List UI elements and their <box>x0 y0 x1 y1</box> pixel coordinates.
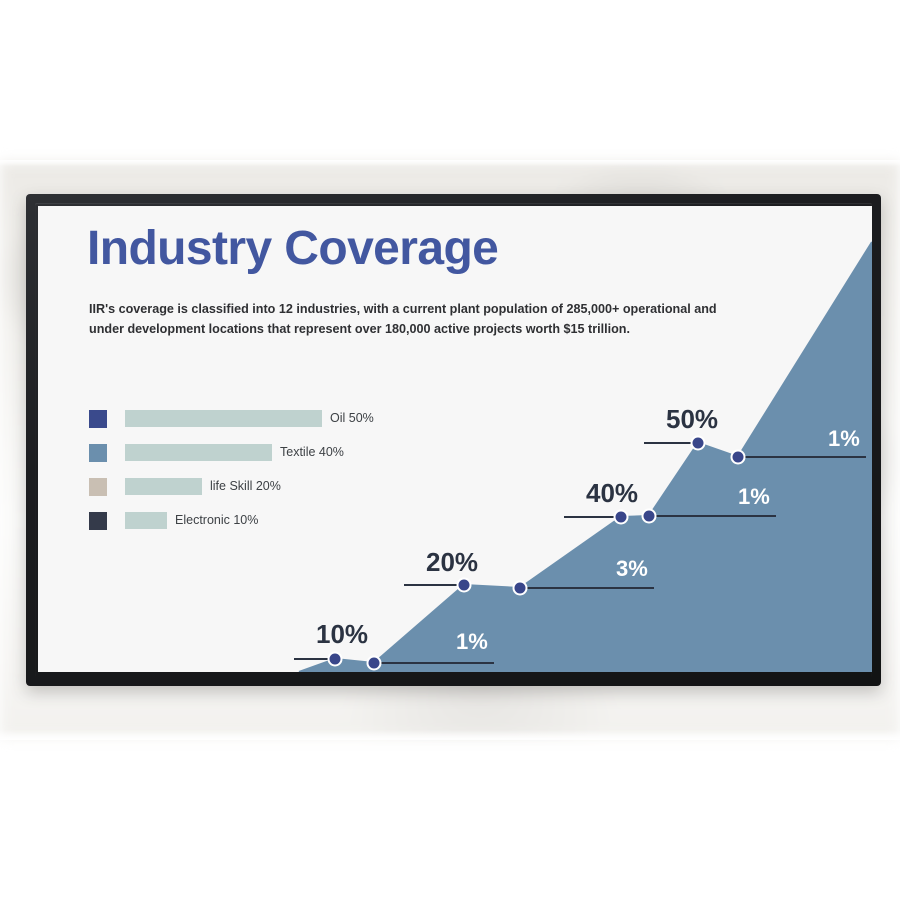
data-point-label: 1% <box>456 629 488 654</box>
legend-color-swatch <box>89 444 107 462</box>
data-point-marker[interactable] <box>733 452 744 463</box>
monitor-bezel: 10%1%20%3%40%1%50%1% Industry Coverage I… <box>26 194 881 686</box>
data-point-marker[interactable] <box>644 511 655 522</box>
background-top-fade <box>0 160 900 166</box>
slide-subtitle: IIR's coverage is classified into 12 ind… <box>89 299 729 340</box>
legend-item-label: Electronic 10% <box>175 511 258 529</box>
presentation-slide: 10%1%20%3%40%1%50%1% Industry Coverage I… <box>38 206 872 672</box>
data-point-marker[interactable] <box>616 512 627 523</box>
legend-item-label: life Skill 20% <box>210 477 281 495</box>
legend-bar <box>125 410 322 427</box>
legend-color-swatch <box>89 512 107 530</box>
data-point-label: 1% <box>828 426 860 451</box>
legend-bar <box>125 444 272 461</box>
screenshot-stage: 10%1%20%3%40%1%50%1% Industry Coverage I… <box>0 0 900 900</box>
legend-bar <box>125 478 202 495</box>
data-point-label: 50% <box>666 404 718 434</box>
data-point-label: 20% <box>426 547 478 577</box>
background-bottom-fade <box>0 730 900 740</box>
data-point-marker[interactable] <box>693 438 704 449</box>
legend-item-label: Oil 50% <box>330 409 374 427</box>
data-point-marker[interactable] <box>330 654 341 665</box>
legend-item[interactable]: Electronic 10% <box>89 506 419 540</box>
data-point-label: 3% <box>616 556 648 581</box>
legend-bar <box>125 512 167 529</box>
legend-item[interactable]: Textile 40% <box>89 438 419 472</box>
legend-item-label: Textile 40% <box>280 443 344 461</box>
legend-item[interactable]: life Skill 20% <box>89 472 419 506</box>
data-point-label: 40% <box>586 478 638 508</box>
data-point-label: 1% <box>738 484 770 509</box>
legend-item[interactable]: Oil 50% <box>89 404 419 438</box>
data-point-label: 10% <box>316 619 368 649</box>
legend-color-swatch <box>89 410 107 428</box>
data-point-marker[interactable] <box>369 658 380 669</box>
industry-legend: Oil 50%Textile 40%life Skill 20%Electron… <box>89 404 419 540</box>
legend-color-swatch <box>89 478 107 496</box>
data-point-marker[interactable] <box>515 583 526 594</box>
page-title: Industry Coverage <box>87 224 498 274</box>
data-point-marker[interactable] <box>459 580 470 591</box>
